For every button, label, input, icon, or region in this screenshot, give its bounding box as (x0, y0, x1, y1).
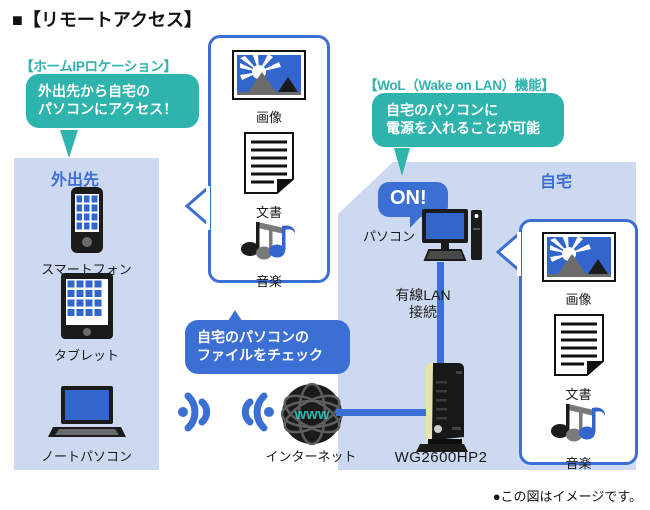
smartphone-icon (66, 186, 108, 254)
home-ip-caption: 【ホームIPロケーション】 (20, 55, 177, 75)
media-panel-left: 画像 文書 音楽 (208, 35, 330, 283)
picture-icon (232, 50, 306, 100)
desktop-pc-icon (421, 208, 483, 266)
media-item-document: 文書 (211, 131, 327, 221)
footnote-text: ●この図はイメージです。 (493, 486, 642, 505)
away-device-label: ノートパソコン (14, 446, 159, 465)
laptop-icon (47, 385, 127, 441)
internet-globe-icon: www (281, 383, 343, 445)
away-device-laptop: ノートパソコン (14, 385, 159, 465)
check-files-callout: 自宅のパソコンの ファイルをチェック (185, 320, 350, 374)
router-icon (412, 363, 470, 455)
router-label: WG2600HP2 (381, 449, 501, 466)
document-icon (243, 131, 295, 195)
check-files-line1: 自宅のパソコンの (197, 329, 342, 347)
wired-lan-label: 有線LAN 接続 (384, 287, 462, 321)
wol-callout-tail (394, 148, 410, 176)
home-region-label: 自宅 (540, 168, 572, 192)
internet-label: インターネット (256, 446, 366, 465)
home-ip-callout: 外出先から自宅の パソコンにアクセス！ (26, 74, 199, 128)
wol-line2: 電源を入れることが可能 (386, 120, 554, 138)
wired-lan-line1: 有線LAN (384, 287, 462, 304)
picture-icon (542, 232, 616, 282)
home-ip-callout-tail (60, 130, 78, 158)
away-device-smartphone: スマートフォン (14, 186, 159, 278)
media-caption: 音楽 (522, 453, 635, 472)
page-title: ■【リモートアクセス】 (12, 6, 202, 32)
home-ip-line1: 外出先から自宅の (38, 83, 190, 101)
wol-line1: 自宅のパソコンに (386, 102, 554, 120)
wol-callout: 自宅のパソコンに 電源を入れることが可能 (372, 93, 564, 147)
media-panel-right: 画像 文書 音楽 (519, 219, 638, 465)
media-item-music: 音楽 (522, 400, 635, 472)
music-icon (548, 400, 610, 446)
document-icon (553, 313, 605, 377)
media-item-picture: 画像 (522, 232, 635, 308)
pc-label: パソコン (363, 226, 415, 245)
away-device-label: タブレット (14, 345, 159, 364)
wifi-signal-right-icon (228, 386, 274, 438)
media-item-music: 音楽 (211, 218, 327, 290)
globe-www-text: www (293, 406, 329, 423)
media-item-picture: 画像 (211, 50, 327, 126)
media-caption: 画像 (522, 289, 635, 308)
check-files-line2: ファイルをチェック (197, 347, 342, 365)
wol-caption: 【WoL（Wake on LAN）機能】 (364, 74, 555, 94)
tablet-icon (58, 272, 116, 340)
media-caption: 音楽 (211, 271, 327, 290)
home-ip-line2: パソコンにアクセス！ (38, 101, 190, 119)
wired-lan-line2: 接続 (384, 304, 462, 321)
wifi-signal-left-icon (178, 386, 224, 438)
media-caption: 画像 (211, 107, 327, 126)
media-item-document: 文書 (522, 313, 635, 403)
power-on-label: ON! (390, 187, 427, 209)
music-icon (238, 218, 300, 264)
panel-notch-right-icon (495, 232, 521, 276)
away-device-tablet: タブレット (14, 272, 159, 364)
panel-notch-left-icon (184, 186, 210, 230)
